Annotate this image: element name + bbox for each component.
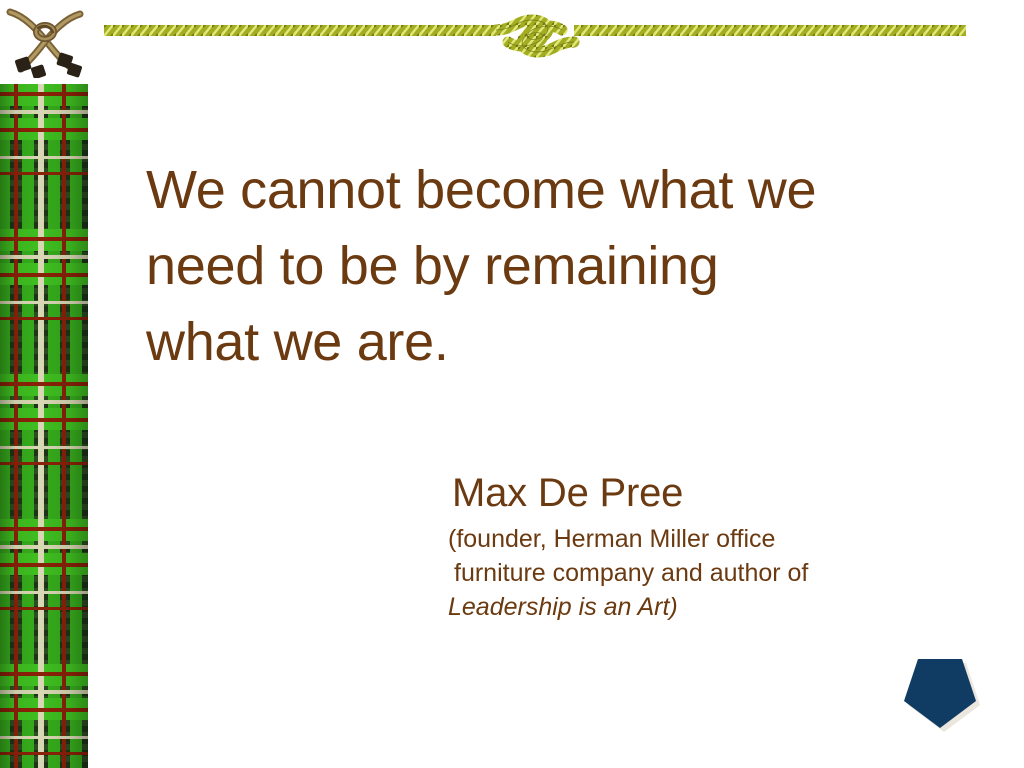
quote-line-3: what we are. [146, 304, 956, 380]
rope-divider-icon [104, 14, 966, 58]
quote-line-2: need to be by remaining [146, 228, 956, 304]
tartan-shading-overlay [0, 84, 88, 768]
attribution-author-name: Max De Pree [452, 468, 972, 518]
tartan-plaid-band [0, 84, 88, 768]
attribution-block: Max De Pree (founder, Herman Miller offi… [452, 468, 972, 624]
slide-canvas: We cannot become what we need to be by r… [0, 0, 1024, 768]
crossed-ropes-icon [6, 2, 86, 78]
quote-text: We cannot become what we need to be by r… [146, 152, 956, 380]
attribution-details: (founder, Herman Miller office furniture… [448, 522, 972, 624]
pentagon-shape [896, 648, 984, 734]
attribution-book-title: Leadership is an Art) [448, 590, 972, 624]
attribution-detail-line-2: furniture company and author of [448, 556, 972, 590]
attribution-detail-line-1: (founder, Herman Miller office [448, 522, 972, 556]
quote-line-1: We cannot become what we [146, 152, 956, 228]
